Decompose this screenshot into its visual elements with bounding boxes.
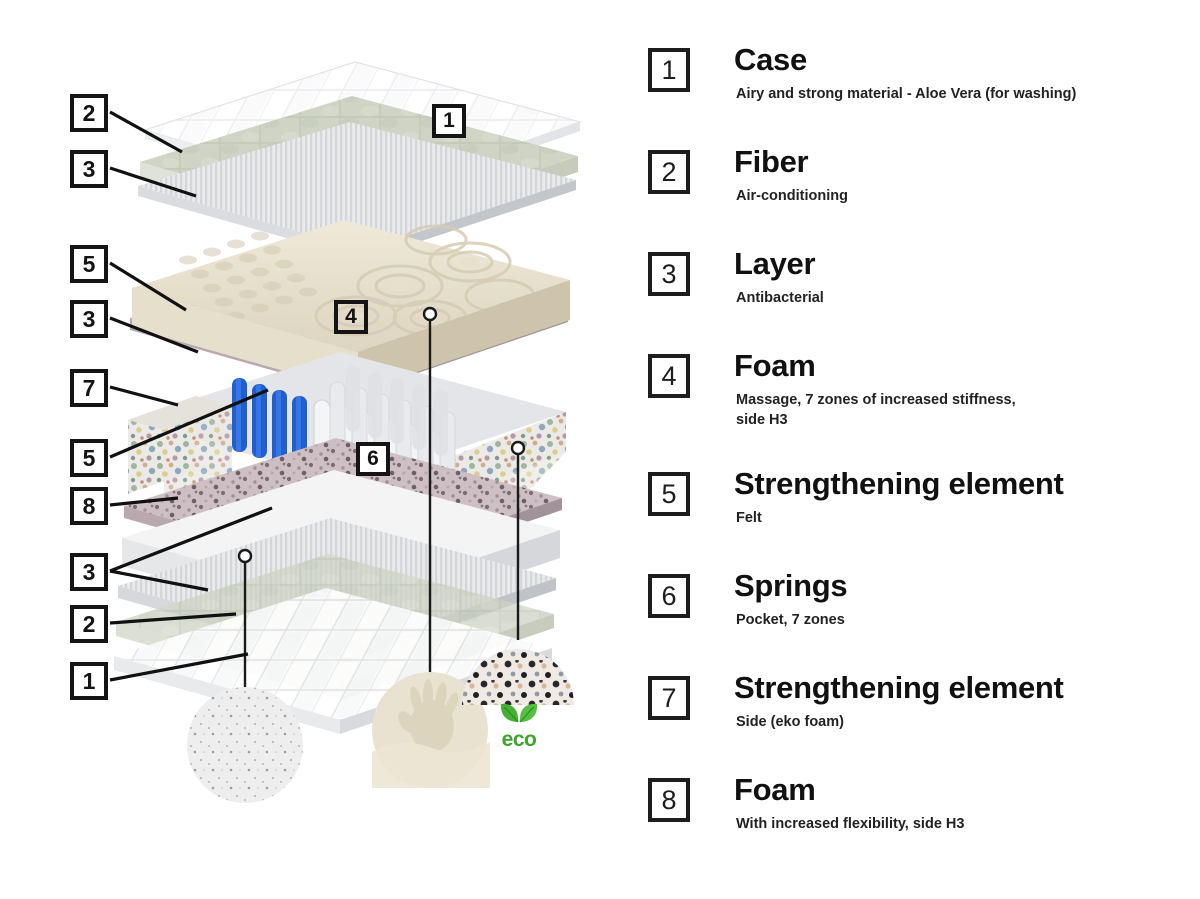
callout-2-fiber-top[interactable]: 2 (70, 94, 108, 132)
callout-5-felt-upper[interactable]: 5 (70, 245, 108, 283)
legend-number-box: 4 (648, 354, 690, 398)
legend-subtitle: Felt (736, 508, 762, 528)
legend-number: 4 (661, 363, 676, 390)
legend-subtitle: Airy and strong material - Aloe Vera (fo… (736, 84, 1076, 104)
callout-label: 5 (83, 251, 96, 278)
legend-subtitle: Massage, 7 zones of increased stiffness,… (736, 390, 1016, 430)
callout-3-layer-mid[interactable]: 3 (70, 300, 108, 338)
callout-1-case-bottom[interactable]: 1 (70, 662, 108, 700)
badge-label: 6 (367, 447, 379, 471)
layer-foam-flexible (122, 470, 560, 630)
detail-memoryfoam-circle (372, 308, 490, 788)
legend-number: 1 (661, 57, 676, 84)
layer-fiber-lower (116, 554, 554, 700)
badge-6-springs[interactable]: 6 (356, 442, 390, 476)
pocket-springs (314, 366, 455, 508)
legend-panel: 1 Case Airy and strong material - Aloe V… (630, 0, 1200, 899)
callout-8-foam-flexible[interactable]: 8 (70, 487, 108, 525)
callout-label: 8 (83, 493, 96, 520)
legend-title: Foam (734, 348, 815, 384)
layer-antibacterial-lower (118, 518, 556, 662)
legend-subtitle: Pocket, 7 zones (736, 610, 845, 630)
blue-springs (232, 378, 307, 470)
badge-label: 4 (345, 305, 357, 329)
legend-title: Strengthening element (734, 670, 1064, 706)
badge-4-foam[interactable]: 4 (334, 300, 368, 334)
layer-spring-core (128, 352, 566, 536)
layer-case (145, 62, 580, 205)
layer-felt-lower (124, 438, 562, 582)
callout-7-side-ekofoam[interactable]: 7 (70, 369, 108, 407)
legend-number-box: 5 (648, 472, 690, 516)
layer-antibacterial-top (138, 122, 576, 260)
detail-ekofoam-halfdome (462, 442, 574, 705)
detail-felt-circle (187, 550, 303, 803)
callout-label: 7 (83, 375, 96, 402)
legend-title: Strengthening element (734, 466, 1064, 502)
callout-3-layer-top[interactable]: 3 (70, 150, 108, 188)
legend-number-box: 6 (648, 574, 690, 618)
callout-label: 3 (83, 306, 96, 333)
callout-label: 1 (83, 668, 96, 695)
legend-number: 8 (661, 787, 676, 814)
layer-fiber-top (140, 96, 578, 244)
legend-number-box: 2 (648, 150, 690, 194)
callout-5-felt-lower[interactable]: 5 (70, 439, 108, 477)
callout-label: 2 (83, 100, 96, 127)
legend-number-box: 8 (648, 778, 690, 822)
handprint (394, 679, 461, 752)
badge-label: 1 (443, 109, 455, 133)
callout-label: 3 (83, 156, 96, 183)
legend-title: Layer (734, 246, 815, 282)
legend-number-box: 1 (648, 48, 690, 92)
badge-1-case[interactable]: 1 (432, 104, 466, 138)
layer-case-bottom (114, 588, 552, 734)
legend-number: 6 (661, 583, 676, 610)
legend-number: 5 (661, 481, 676, 508)
callout-leaders (110, 112, 272, 680)
legend-number-box: 3 (648, 252, 690, 296)
legend-title: Foam (734, 772, 815, 808)
callout-3-layer-bottom[interactable]: 3 (70, 553, 108, 591)
legend-subtitle: Antibacterial (736, 288, 824, 308)
legend-title: Fiber (734, 144, 808, 180)
legend-number-box: 7 (648, 676, 690, 720)
legend-title: Case (734, 42, 807, 78)
callout-label: 2 (83, 611, 96, 638)
callout-label: 3 (83, 559, 96, 586)
legend-number: 7 (661, 685, 676, 712)
legend-number: 2 (661, 159, 676, 186)
mattress-layers-infographic: 2 3 5 3 7 5 8 3 2 1 1 4 6 eco 1 Case Air (0, 0, 1200, 899)
eco-badge: eco (496, 700, 542, 750)
callout-label: 5 (83, 445, 96, 472)
legend-subtitle: Side (eko foam) (736, 712, 844, 732)
callout-2-fiber-bottom[interactable]: 2 (70, 605, 108, 643)
legend-subtitle: Air-conditioning (736, 186, 848, 206)
legend-title: Springs (734, 568, 847, 604)
eco-leaves-icon (496, 700, 542, 724)
legend-number: 3 (661, 261, 676, 288)
legend-subtitle: With increased flexibility, side H3 (736, 814, 964, 834)
eco-label: eco (496, 729, 542, 750)
